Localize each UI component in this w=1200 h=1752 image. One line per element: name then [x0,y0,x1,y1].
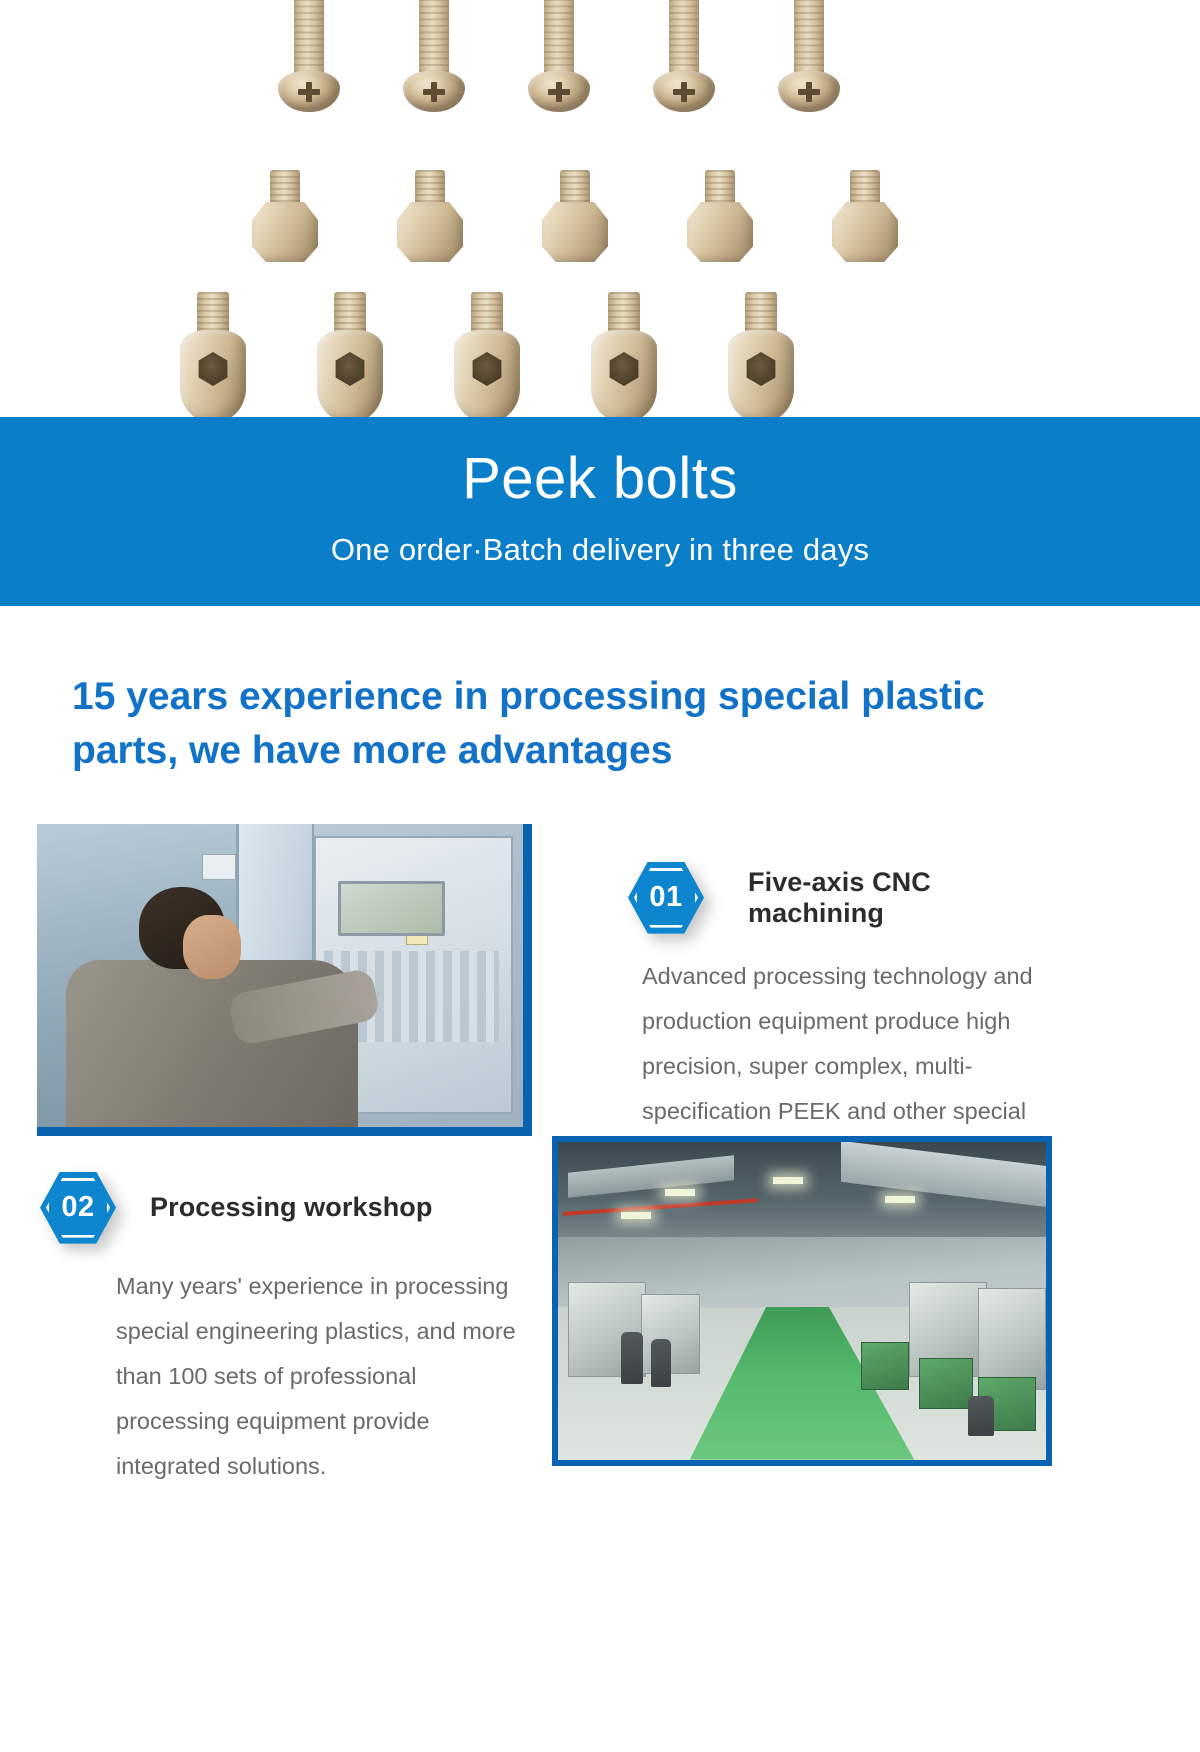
hex-bolt [252,170,318,262]
phillips-screw [653,0,715,112]
phillips-screw [778,0,840,112]
hex-head-bolt-row [252,170,898,262]
feature-01-header: 01 Five-axis CNC machining [628,862,1068,934]
socket-cap-screw-row [178,292,796,417]
hex-head [832,202,898,262]
hex-bolt [832,170,898,262]
feature-02-header: 02 Processing workshop [40,1172,480,1244]
material-cart [919,1358,973,1409]
machine-sticker [202,854,236,880]
feature-description: Many years' experience in processing spe… [116,1264,528,1490]
socket-cap-screw [726,292,796,417]
operator-face [183,915,241,979]
banner-title: Peek bolts [462,449,738,510]
hex-head [397,202,463,262]
phillips-pan-head-screw-row [278,0,840,112]
hex-bolt [542,170,608,262]
socket-cap-screw [178,292,248,417]
socket-cap-screw [452,292,522,417]
hero-product-image [0,0,1200,417]
feature-title: Five-axis CNC machining [748,867,1068,929]
hex-bolt [397,170,463,262]
socket-cap-screw [589,292,659,417]
product-title-banner: Peek bolts One order·Batch delivery in t… [0,417,1200,606]
cnc-machining-photo [37,824,532,1136]
feature-01-text: 01 Five-axis CNC machining Advanced proc… [628,862,1068,1180]
ceiling-light [773,1177,803,1184]
ceiling-light [665,1189,695,1196]
phillips-cross-slot-icon [548,82,570,102]
phillips-cross-slot-icon [673,82,695,102]
factory-worker [621,1332,643,1384]
phillips-cross-slot-icon [798,82,820,102]
cnc-display-screen [338,881,445,936]
phillips-cross-slot-icon [423,82,445,102]
phillips-screw [403,0,465,112]
material-cart [861,1342,910,1390]
screw-shaft [794,0,824,78]
screw-shaft [419,0,449,78]
socket-cap-screw [315,292,385,417]
screw-shaft [294,0,324,78]
feature-02-text: 02 Processing workshop Many years' exper… [40,1172,480,1490]
hexagon-number-badge-icon: 02 [40,1172,116,1244]
feature-title: Processing workshop [150,1192,432,1223]
hex-head [542,202,608,262]
hexagon-number-badge-icon: 01 [628,862,704,934]
ceiling-light [621,1212,651,1219]
feature-number: 01 [628,862,704,934]
phillips-cross-slot-icon [298,82,320,102]
cnc-machine [978,1288,1046,1390]
phillips-screw [528,0,590,112]
hex-head [252,202,318,262]
feature-block-01: 01 Five-axis CNC machining Advanced proc… [0,824,1200,1142]
factory-worker [968,1396,994,1436]
section-heading: 15 years experience in processing specia… [72,670,1062,778]
ceiling-light [885,1196,915,1203]
phillips-screw [278,0,340,112]
workshop-photo [552,1136,1052,1466]
hex-head [687,202,753,262]
feature-number: 02 [40,1172,116,1244]
hex-bolt [687,170,753,262]
banner-subtitle: One order·Batch delivery in three days [331,532,869,568]
feature-block-02: 02 Processing workshop Many years' exper… [0,1172,1200,1502]
screw-shaft [544,0,574,78]
factory-worker [651,1339,671,1387]
screw-shaft [669,0,699,78]
